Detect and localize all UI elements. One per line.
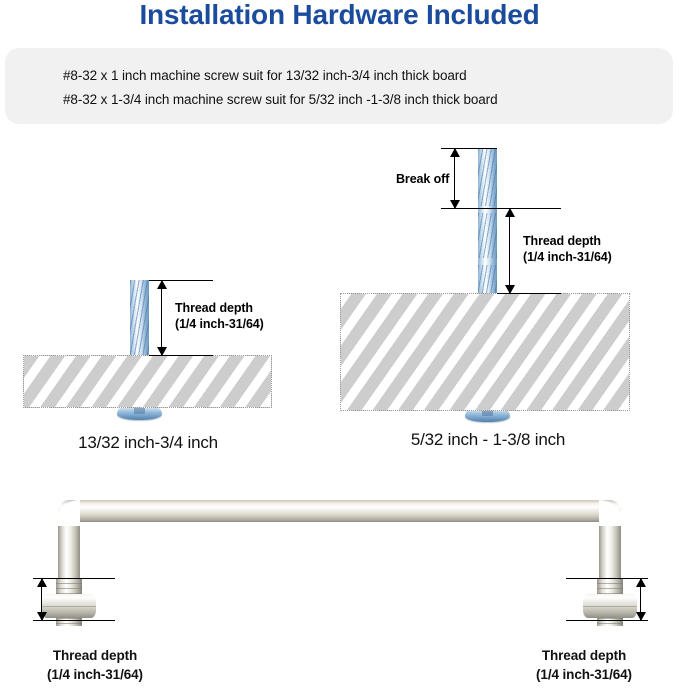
handle-elbow-left	[54, 500, 80, 526]
handle-label-right-line2: (1/4 inch-31/64)	[489, 665, 679, 684]
dim-arrow-bottom-breakoff	[450, 200, 460, 209]
dim-label-left-line1: Thread depth	[175, 300, 264, 316]
dim-line-left	[161, 280, 162, 356]
handle-label-left: Thread depth (1/4 inch-31/64)	[0, 646, 190, 684]
dim-label-thread-depth-right: Thread depth (1/4 inch-31/64)	[523, 233, 612, 265]
handle-foot-seam-right	[583, 606, 637, 607]
spec-callout-box: #8-32 x 1 inch machine screw suit for 13…	[5, 48, 673, 124]
dim-arrow-top-handle-left	[37, 578, 47, 587]
handle-label-left-line1: Thread depth	[0, 646, 190, 665]
handle-label-right-line1: Thread depth	[489, 646, 679, 665]
spec-line-long-screw: #8-32 x 1-3/4 inch machine screw suit fo…	[63, 92, 497, 107]
dim-arrow-bottom-left	[157, 347, 167, 356]
dim-arrow-top-right	[505, 208, 515, 217]
spec-line-short-screw: #8-32 x 1 inch machine screw suit for 13…	[63, 68, 467, 83]
cabinet-pull-handle-diagram: Thread depth (1/4 inch-31/64) Thread dep…	[0, 470, 679, 690]
dim-label-right-line2: (1/4 inch-31/64)	[523, 249, 612, 265]
board-thin	[23, 355, 272, 408]
handle-elbow-right	[599, 500, 625, 526]
page-title: Installation Hardware Included	[0, 0, 679, 32]
dim-arrow-top-left	[157, 280, 167, 289]
dim-arrow-top-handle-right	[636, 578, 646, 587]
dim-arrow-top-breakoff	[450, 148, 460, 157]
dim-arrow-bottom-right	[505, 285, 515, 294]
dim-arrow-bottom-handle-left	[37, 612, 47, 621]
dim-label-break-off: Break off	[396, 171, 449, 187]
dim-label-right-line1: Thread depth	[523, 233, 612, 249]
board-thick	[340, 293, 630, 411]
dim-line-right	[509, 208, 510, 294]
dim-label-thread-depth-left: Thread depth (1/4 inch-31/64)	[175, 300, 264, 332]
installation-diagrams: Thread depth (1/4 inch-31/64) 13/32 inch…	[0, 130, 679, 470]
screw-breakoff-notch-2	[478, 258, 497, 265]
screw-segment-1-right	[478, 148, 497, 206]
handle-label-left-line2: (1/4 inch-31/64)	[0, 665, 190, 684]
screw-segment-2-right	[478, 213, 497, 258]
handle-bar	[58, 500, 621, 522]
handle-label-right: Thread depth (1/4 inch-31/64)	[489, 646, 679, 684]
dim-label-left-line2: (1/4 inch-31/64)	[175, 316, 264, 332]
dim-arrow-bottom-handle-right	[636, 612, 646, 621]
caption-thin-board: 13/32 inch-3/4 inch	[0, 433, 296, 453]
caption-thick-board: 5/32 inch - 1-3/8 inch	[340, 430, 636, 450]
handle-foot-seam-left	[42, 606, 96, 607]
